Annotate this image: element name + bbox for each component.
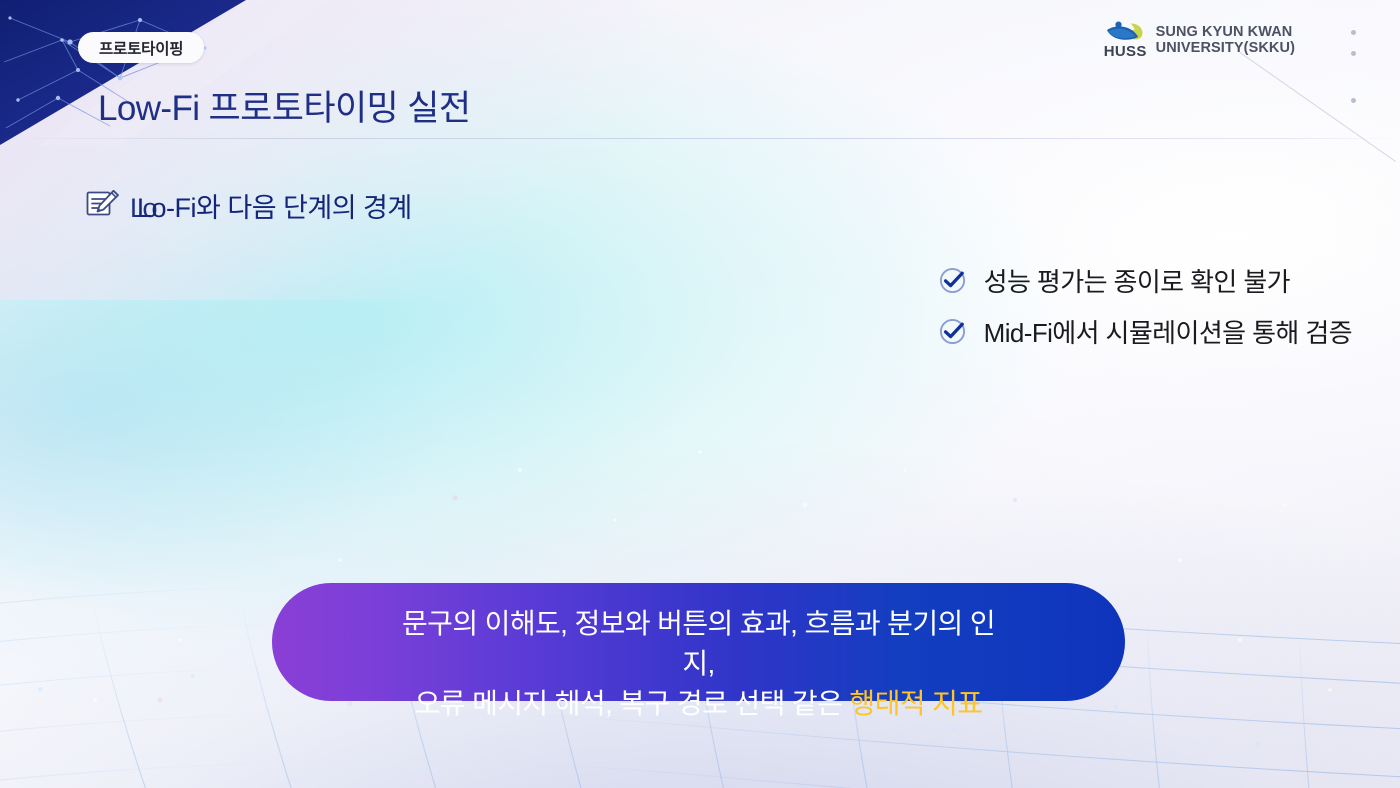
- check-circle-icon: [937, 316, 968, 347]
- slide-header: 프로토타이핑 Low-Fi 프로토타이밍 실전 HUSS SUNG KYUN K…: [0, 0, 1400, 139]
- header-divider: [0, 138, 1400, 139]
- memo-pencil-icon: [86, 189, 120, 219]
- ghost-overlap-glyph: Lo: [130, 193, 155, 224]
- section-heading: Lo-Fi와 다음 단계의 경계 Lo: [86, 186, 412, 225]
- list-item-label: 성능 평가는 종이로 확인 불가: [984, 262, 1290, 299]
- list-item-label: Mid-Fi에서 시뮬레이션을 통해 검증: [984, 313, 1352, 350]
- check-circle-icon: [937, 265, 968, 296]
- section-badge: 프로토타이핑: [78, 32, 204, 63]
- callout-banner: [272, 583, 1125, 701]
- decorative-dot: [1351, 51, 1356, 56]
- list-item: 성능 평가는 종이로 확인 불가: [937, 262, 1290, 299]
- university-name-line1: SUNG KYUN KWAN: [1156, 24, 1295, 40]
- university-name: SUNG KYUN KWAN UNIVERSITY(SKKU): [1156, 24, 1295, 56]
- university-name-line2: UNIVERSITY(SKKU): [1156, 40, 1295, 56]
- checklist: 성능 평가는 종이로 확인 불가 Mid-Fi에서 시뮬레이션을 통해 검증: [937, 262, 1352, 350]
- huss-swoosh-icon: [1105, 21, 1145, 43]
- brand-logo: HUSS SUNG KYUN KWAN UNIVERSITY(SKKU): [1104, 21, 1295, 59]
- decorative-dots: [1351, 30, 1356, 103]
- decorative-dot: [1351, 30, 1356, 35]
- huss-logo-mark: HUSS: [1104, 21, 1147, 59]
- page-title: Low-Fi 프로토타이밍 실전: [98, 80, 470, 131]
- list-item: Mid-Fi에서 시뮬레이션을 통해 검증: [937, 313, 1352, 350]
- huss-wordmark: HUSS: [1104, 44, 1147, 59]
- presentation-slide: 프로토타이핑 Low-Fi 프로토타이밍 실전 HUSS SUNG KYUN K…: [0, 0, 1400, 788]
- section-heading-label: Lo-Fi와 다음 단계의 경계: [137, 186, 412, 225]
- decorative-dot: [1351, 98, 1356, 103]
